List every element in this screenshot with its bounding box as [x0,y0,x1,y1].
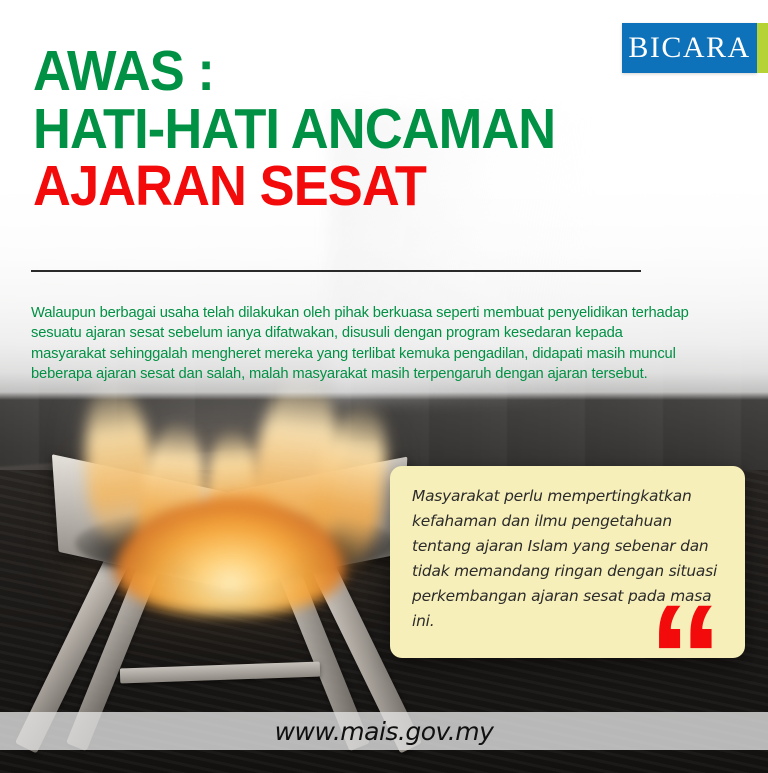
headline-line-2: HATI-HATI ANCAMAN [33,102,659,157]
body-paragraph: Walaupun berbagai usaha telah dilakukan … [31,303,700,384]
headline-line-3: AJARAN SESAT [33,159,659,214]
header-divider [31,270,641,272]
page-title: AWAS : HATI-HATI ANCAMAN AJARAN SESAT [33,44,713,214]
footer-website-url[interactable]: www.mais.gov.my [0,712,768,750]
headline-line-1: AWAS : [33,44,659,99]
rehal-crossbar [120,662,320,684]
quote-open-quotation-icon: “ [648,612,717,702]
photo-flames [30,370,430,630]
bicara-logo-accent-bar [757,23,768,73]
poster-canvas: BICARA AWAS : HATI-HATI ANCAMAN AJARAN S… [0,0,768,773]
